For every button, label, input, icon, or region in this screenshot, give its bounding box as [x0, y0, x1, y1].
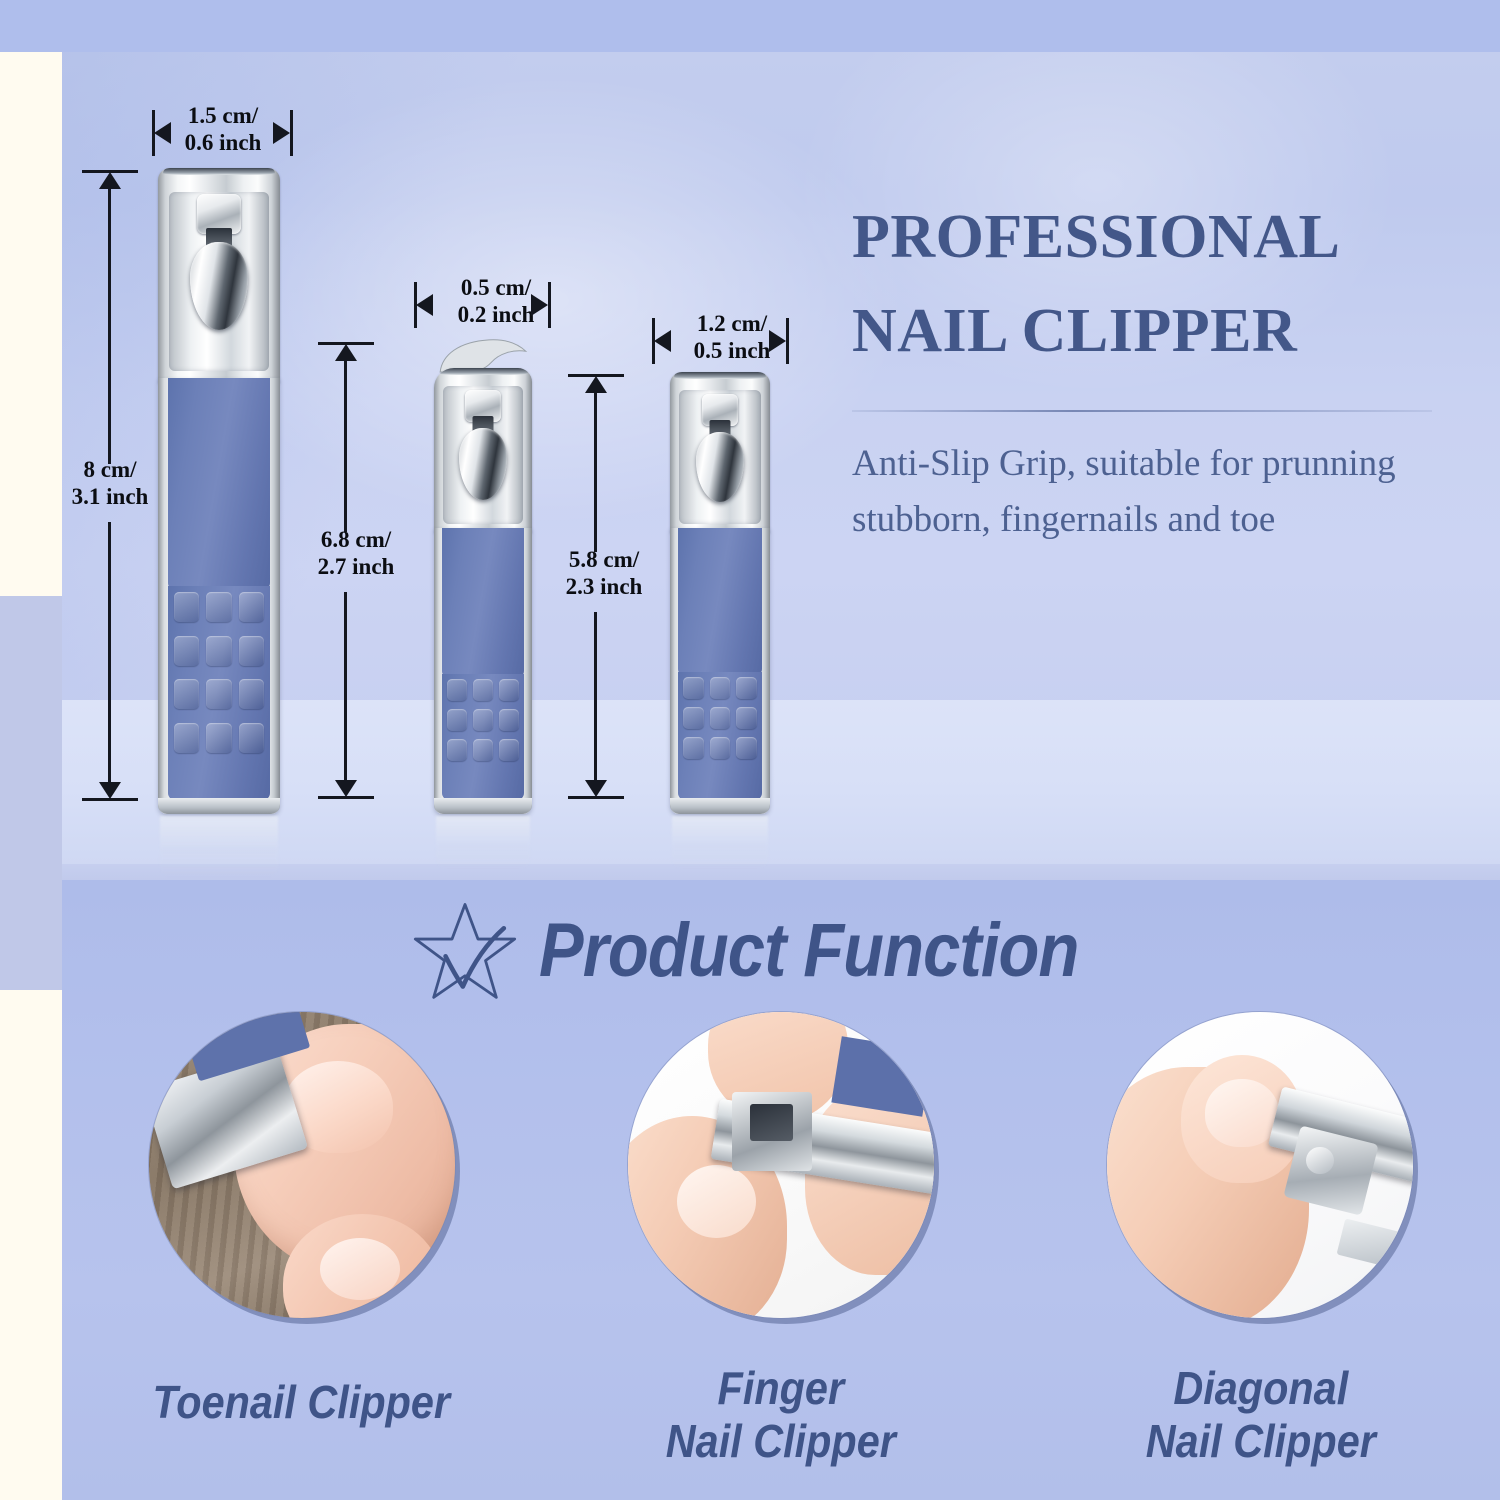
card-caption: Finger Nail Clipper — [666, 1362, 896, 1469]
grip-foot — [158, 798, 280, 814]
clipper-reflection — [160, 816, 277, 878]
grip-pad-textured — [442, 674, 524, 800]
clipper-diagonal — [434, 368, 532, 814]
clipper-grip — [434, 528, 532, 814]
grip-pad-smooth — [442, 528, 524, 678]
clipper-reflection — [672, 816, 768, 870]
diagonal-tip-icon — [432, 338, 534, 372]
fingernail-clipping-photo — [628, 1012, 934, 1318]
grip-bump-grid — [683, 672, 757, 792]
function-card-list: Toenail Clipper Finger Nail Clipper — [62, 1012, 1500, 1469]
card-caption: Toenail Clipper — [153, 1376, 451, 1429]
headline-line-1: PROFESSIONAL — [852, 202, 1340, 274]
table-edge — [62, 864, 1500, 880]
headline-line-2: NAIL CLIPPER — [852, 296, 1297, 368]
section-header: Product Function — [62, 894, 1500, 1006]
diagonal-clipping-photo — [1107, 1012, 1413, 1318]
subcopy-text: Anti-Slip Grip, suitable for prunning st… — [852, 436, 1432, 548]
infographic-page: 1.5 cm/ 0.6 inch 8 cm/ 3.1 inch 0.5 cm/ … — [0, 0, 1500, 1500]
grip-pad-textured — [168, 586, 271, 800]
clipper-head — [158, 168, 280, 384]
clipper-grip — [670, 528, 770, 814]
clipper-finger — [670, 372, 770, 814]
function-card: Toenail Clipper — [92, 1012, 512, 1469]
clipper-reflection — [436, 816, 530, 870]
clipper-head — [434, 368, 532, 534]
grip-foot — [670, 798, 770, 814]
grip-foot — [434, 798, 532, 814]
function-card: Finger Nail Clipper — [571, 1012, 991, 1469]
grip-pad-textured — [678, 672, 762, 800]
card-caption: Diagonal Nail Clipper — [1145, 1362, 1375, 1469]
clipper-toenail — [158, 168, 280, 814]
clipper-grip — [158, 378, 280, 814]
star-check-icon — [409, 898, 521, 1006]
clipper-head — [670, 372, 770, 534]
product-dimensions-panel: 1.5 cm/ 0.6 inch 8 cm/ 3.1 inch 0.5 cm/ … — [62, 52, 1500, 880]
top-accent-band — [0, 0, 1500, 52]
headline-divider — [852, 410, 1432, 412]
grip-pad-smooth — [168, 378, 271, 590]
section-title: Product Function — [539, 907, 1078, 994]
grip-bump-grid — [174, 586, 264, 787]
grip-bump-grid — [447, 674, 519, 792]
toenail-clipping-photo — [149, 1012, 455, 1318]
function-card: Diagonal Nail Clipper — [1050, 1012, 1470, 1469]
left-margin-accent — [0, 596, 62, 990]
grip-pad-smooth — [678, 528, 762, 676]
product-function-panel: Product Function Toenail Clipper — [62, 880, 1500, 1500]
